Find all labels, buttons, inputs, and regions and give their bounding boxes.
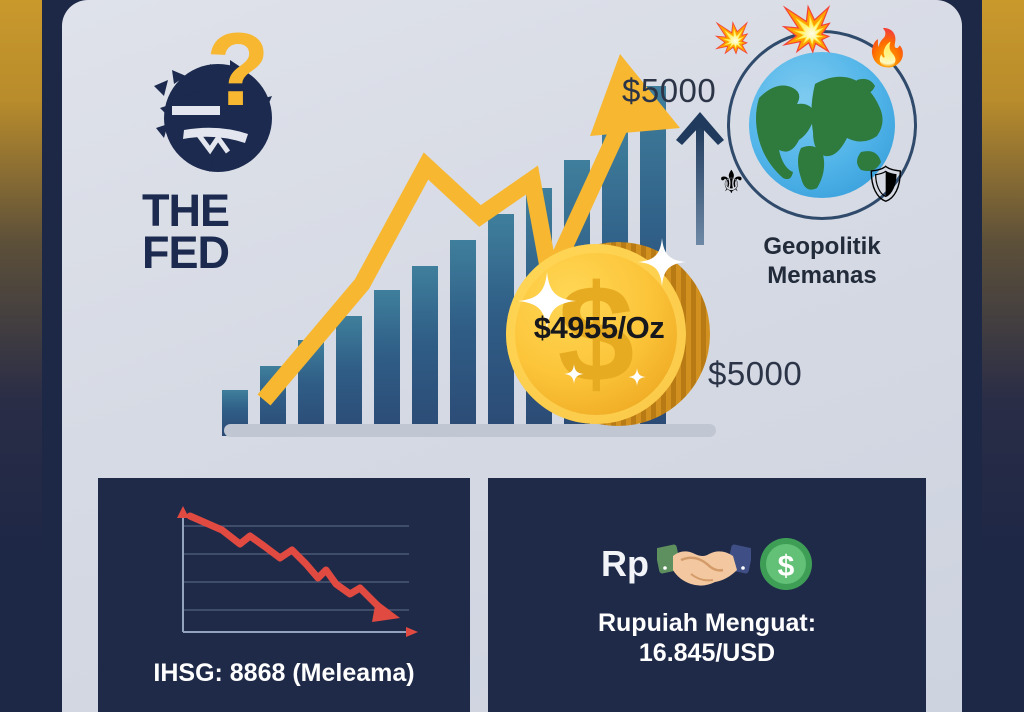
geopolitics-widget: 💥 💥 🔥 ⚜ 🛡 Geopolitik Memanas <box>707 16 937 291</box>
right-gold-edge <box>982 0 1024 712</box>
geopolitics-line2: Memanas <box>707 261 937 290</box>
handshake-icon <box>657 534 751 594</box>
gold-coin: $ $4955/Oz <box>502 238 712 443</box>
bomb-cloud-icon: 💥 <box>713 24 750 54</box>
rupiah-caption: Rupuiah Menguat: 16.845/USD <box>488 608 926 668</box>
target-price-side-label: $5000 <box>708 355 802 393</box>
rupiah-caption-line1: Rupuiah Menguat: <box>488 608 926 638</box>
left-gold-edge <box>0 0 42 712</box>
sparkle-icon <box>628 368 646 386</box>
rupiah-caption-line2: 16.845/USD <box>488 638 926 668</box>
geopolitics-line1: Geopolitik <box>707 232 937 261</box>
rupiah-symbol-label: Rp <box>601 543 649 585</box>
main-card: ? THE FED $5000 $5000 <box>62 0 962 712</box>
sparkle-icon <box>564 364 584 384</box>
declining-line-chart-icon <box>164 502 424 644</box>
infographic-canvas: ? THE FED $5000 $5000 <box>0 0 1024 712</box>
missile-icon: ⚜ <box>717 166 746 198</box>
sparkle-icon <box>638 238 686 286</box>
rupiah-panel: Rp $ Rupuiah Menguat: 16. <box>488 478 926 712</box>
explosion-icon: 💥 <box>779 8 834 52</box>
target-price-top-label: $5000 <box>622 72 716 110</box>
ihsg-panel: IHSG: 8868 (Meleama) <box>98 478 470 712</box>
rupiah-icon-row: Rp $ <box>488 534 926 594</box>
gold-price-label: $4955/Oz <box>484 310 714 346</box>
svg-text:$: $ <box>778 550 795 583</box>
shield-coin-icon: 🛡 <box>863 166 909 202</box>
geopolitics-caption: Geopolitik Memanas <box>707 232 937 291</box>
fire-explosion-icon: 🔥 <box>865 30 910 66</box>
ihsg-caption: IHSG: 8868 (Meleama) <box>98 658 470 688</box>
dollar-coin-icon: $ <box>759 537 813 591</box>
